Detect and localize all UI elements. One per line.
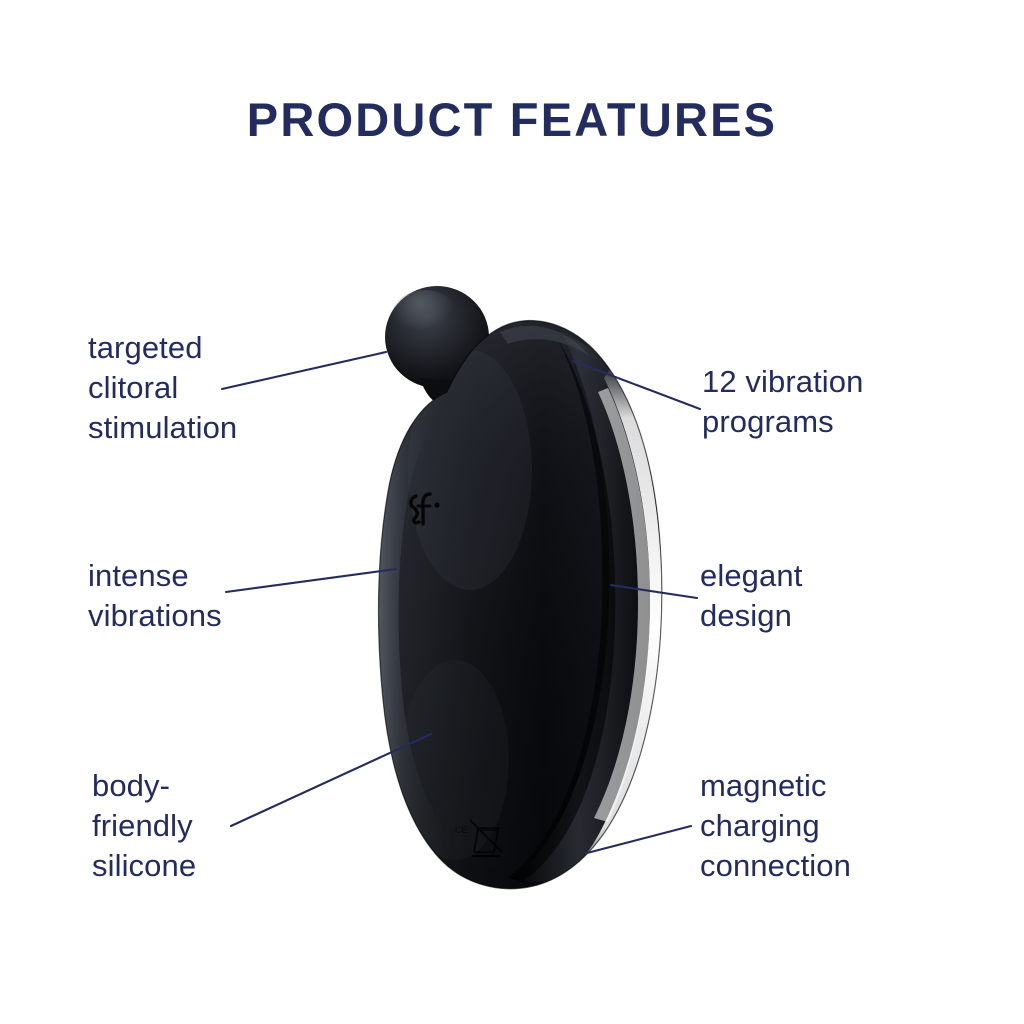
svg-text:CE: CE xyxy=(455,825,468,835)
product-body: CE xyxy=(360,286,680,910)
callout-label-elegant-design: elegant design xyxy=(700,556,980,636)
callout-label-targeted-clitoral-stimulation: targeted clitoral stimulation xyxy=(88,328,348,448)
product-features-infographic: CE PRODUCT FEATURES targeted clitoral st… xyxy=(0,0,1024,1024)
callout-label-magnetic-charging-connection: magnetic charging connection xyxy=(700,766,1000,886)
callout-label-body-friendly-silicone: body- friendly silicone xyxy=(92,766,332,886)
page-title: PRODUCT FEATURES xyxy=(0,96,1024,143)
callout-label-intense-vibrations: intense vibrations xyxy=(88,556,348,636)
callout-label-12-vibration-programs: 12 vibration programs xyxy=(702,362,982,442)
